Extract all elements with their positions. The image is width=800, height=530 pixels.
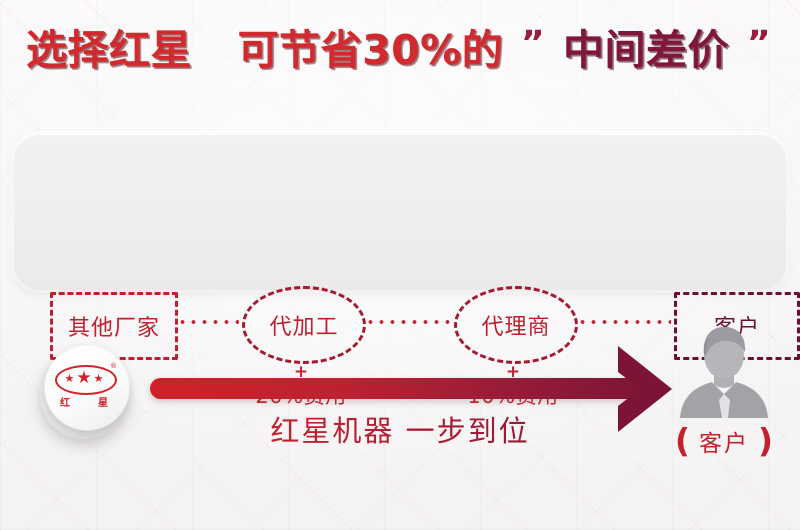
star-icon-center: ★ xyxy=(76,370,91,387)
slogan-text: 红星机器 一步到位 xyxy=(210,408,590,450)
flow-node-oem[interactable]: 代加工 xyxy=(242,286,366,364)
flow-node-other-factory-label: 其他厂家 xyxy=(68,310,160,342)
logo-mark: ★ ★ ★ ® 红 星 xyxy=(53,361,121,415)
quote-close-mark: ” xyxy=(747,26,771,59)
quote-open-mark: ” xyxy=(521,26,545,59)
bracket-left-icon: ( xyxy=(675,426,690,456)
star-icon-left: ★ xyxy=(65,373,75,384)
customer-tag: ( 客户 ) xyxy=(650,424,798,458)
connector-dots-3 xyxy=(577,320,671,324)
logo-char-xing: 星 xyxy=(98,394,108,409)
customer-avatar-icon xyxy=(672,320,776,418)
headline-part2: 可节省30%的 xyxy=(238,26,504,74)
star-icon-right: ★ xyxy=(94,373,104,384)
registered-trademark-icon: ® xyxy=(110,362,117,370)
connector-dots-2 xyxy=(365,320,451,324)
headline: 选择红星 可节省30%的 ” 中间差价 ” xyxy=(0,26,800,71)
logo-disc: ★ ★ ★ ® 红 星 xyxy=(45,346,129,430)
logo-char-hong: 红 xyxy=(60,394,70,409)
connector-dots-1 xyxy=(177,320,239,324)
customer-tag-label: 客户 xyxy=(699,424,749,458)
direct-arrow-head-icon xyxy=(614,344,676,434)
headline-highlight: 中间差价 xyxy=(563,26,729,74)
logo-brand-chars: 红 星 xyxy=(55,394,113,409)
bracket-right-icon: ) xyxy=(758,426,773,456)
headline-part1: 选择红星 xyxy=(26,26,192,74)
flow-node-agent-label: 代理商 xyxy=(481,309,550,341)
logo-stars-group: ★ ★ ★ xyxy=(55,365,113,391)
direct-arrow-shaft xyxy=(150,378,650,399)
poster-canvas: 选择红星 可节省30%的 ” 中间差价 ” 其他厂家 代加工 + 20%费用 代… xyxy=(0,0,800,530)
hongxing-logo-badge[interactable]: ★ ★ ★ ® 红 星 xyxy=(38,345,130,437)
supply-chain-panel: 其他厂家 代加工 + 20%费用 代理商 + 10%费用 客户 xyxy=(14,134,786,290)
flow-node-oem-label: 代加工 xyxy=(269,309,338,341)
flow-node-agent[interactable]: 代理商 xyxy=(454,286,578,364)
